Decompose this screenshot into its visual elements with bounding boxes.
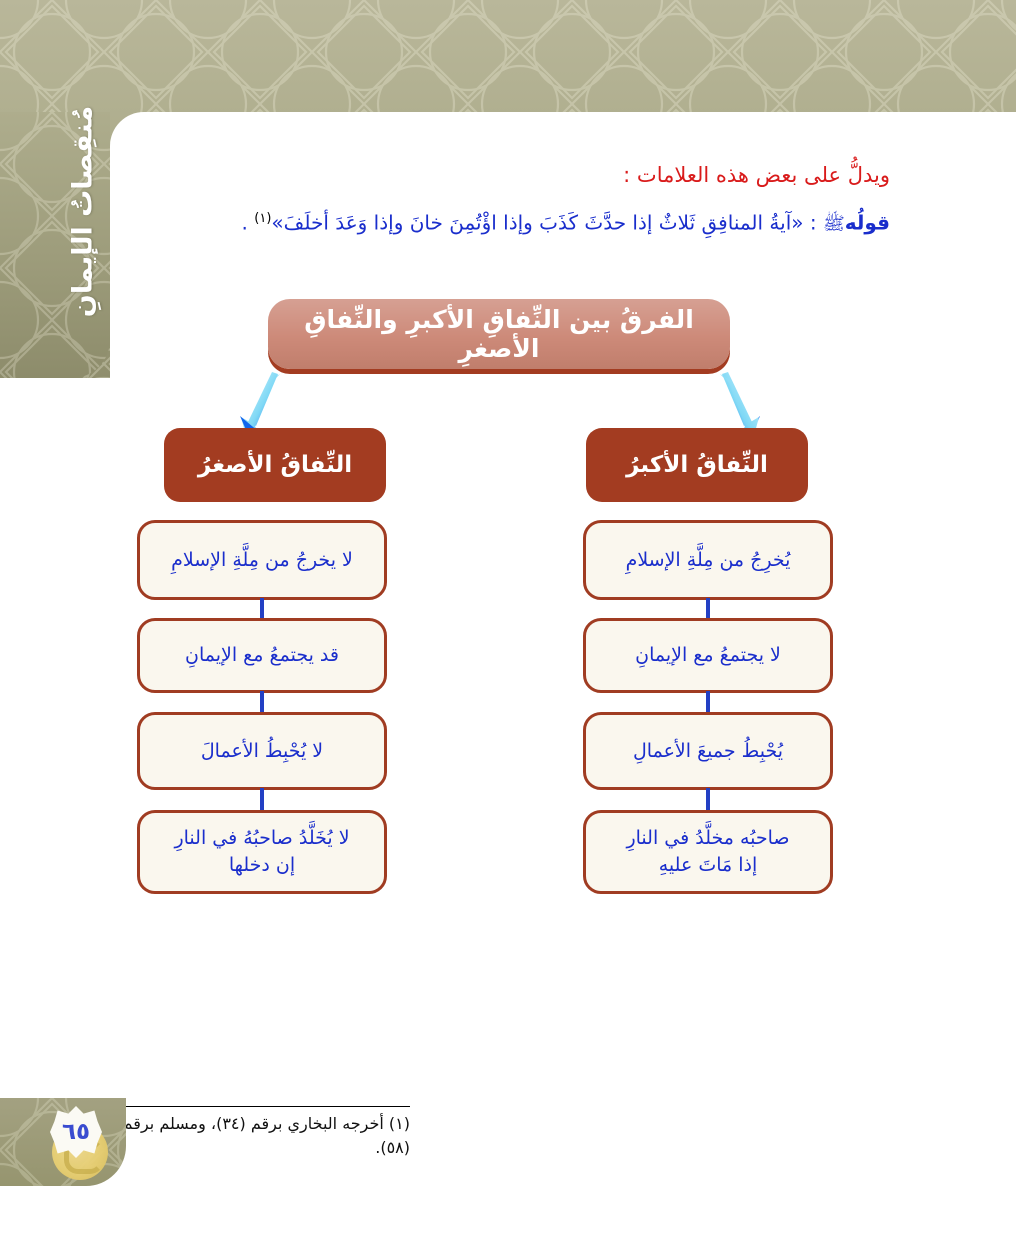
connector-line — [706, 691, 710, 714]
page-number-badge: ٦٥ — [0, 1098, 130, 1188]
connector-line — [706, 598, 710, 620]
connector-line — [706, 788, 710, 812]
connector-line — [260, 691, 264, 714]
akbar-item-3: يُحْبِطُ جميعَ الأعمالِ — [583, 712, 833, 790]
akbar-item-2: لا يجتمعُ مع الإيمانِ — [583, 618, 833, 693]
page-number-value: ٦٥ — [50, 1106, 102, 1158]
asghar-item-1: لا يخرجُ من مِلَّةِ الإسلامِ — [137, 520, 387, 600]
asghar-item-3: لا يُحْبِطُ الأعمالَ — [137, 712, 387, 790]
branch-heading-asghar: النِّفاقُ الأصغرُ — [164, 428, 386, 502]
branch-heading-akbar: النِّفاقُ الأكبرُ — [586, 428, 808, 502]
comparison-diagram: الفرقُ بين النِّفاقِ الأكبرِ والنِّفاقِ … — [0, 0, 1016, 1252]
footnote-text: (١) أخرجه البخاري برقم (٣٤)، ومسلم برقم … — [120, 1112, 410, 1160]
connector-line — [260, 788, 264, 812]
akbar-item-4: صاحبُه مخلَّدُ في النارِإذا مَاتَ عليهِ — [583, 810, 833, 894]
asghar-item-4: لا يُخَلَّدُ صاحبُهُ في النارِإن دخلها — [137, 810, 387, 894]
footnote-divider — [124, 1106, 410, 1107]
asghar-item-2: قد يجتمعُ مع الإيمانِ — [137, 618, 387, 693]
akbar-item-1: يُخرِجُ من مِلَّةِ الإسلامِ — [583, 520, 833, 600]
connector-line — [260, 598, 264, 620]
